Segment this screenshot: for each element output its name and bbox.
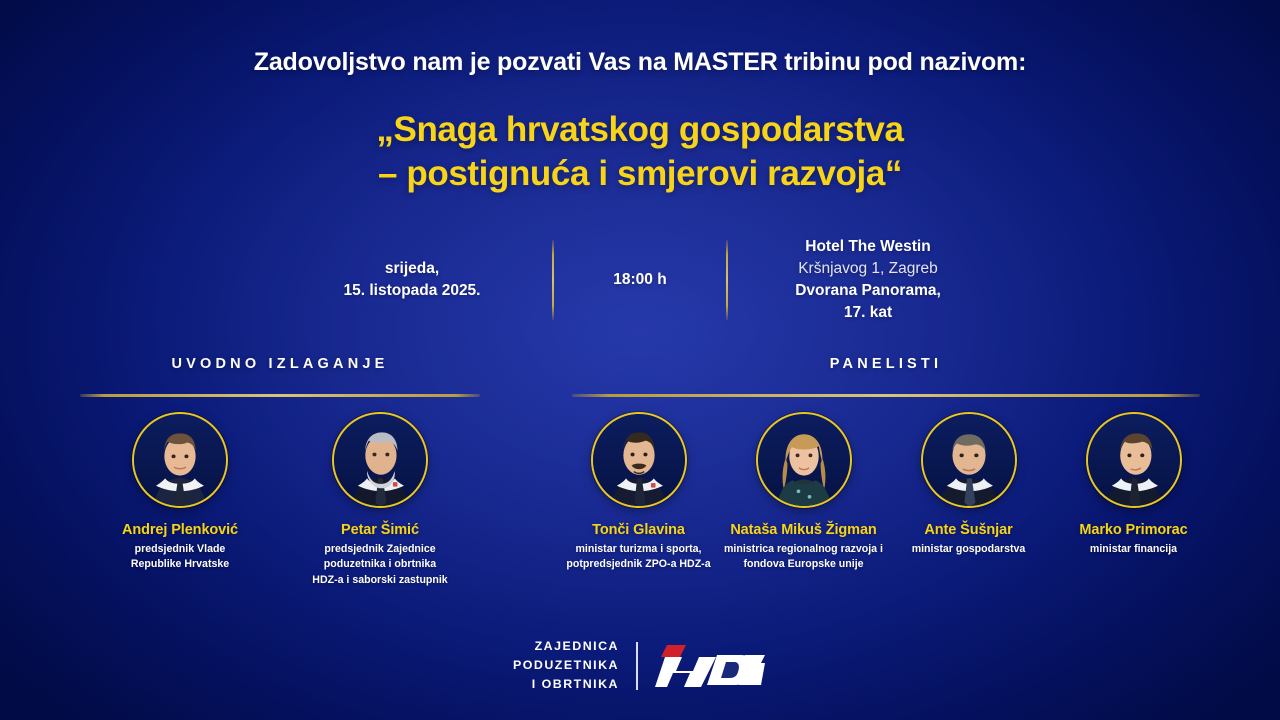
portrait-tonci-glavina xyxy=(591,412,687,508)
speaker-card: Petar Šimić predsjednik Zajednice poduze… xyxy=(280,412,480,588)
portrait-andrej-plenkovic xyxy=(132,412,228,508)
details-divider-1 xyxy=(552,240,554,320)
speaker-group-panelisti: Tonči Glavina ministar turizma i sporta,… xyxy=(556,412,1216,573)
venue-floor: 17. kat xyxy=(744,302,992,324)
event-headline: „Snaga hrvatskog gospodarstva – postignu… xyxy=(0,108,1280,196)
section-rule-right xyxy=(572,394,1200,397)
footer-logo-lockup: ZAJEDNICA PODUZETNIKA I OBRTNIKA xyxy=(0,637,1280,694)
event-venue: Hotel The Westin Kršnjavog 1, Zagreb Dvo… xyxy=(744,236,992,324)
section-title-panelisti: PANELISTI xyxy=(572,356,1200,372)
section-title-uvodno-izlaganje: UVODNO IZLAGANJE xyxy=(80,356,480,372)
speaker-group-uvodno-izlaganje: Andrej Plenković predsjednik Vlade Repub… xyxy=(80,412,480,588)
speaker-name: Petar Šimić xyxy=(280,522,480,538)
details-divider-2 xyxy=(726,240,728,320)
headline-line-2: – postignuća i smjerovi razvoja“ xyxy=(0,152,1280,196)
speaker-card: Nataša Mikuš Žigman ministrica regionaln… xyxy=(721,412,886,573)
venue-address: Kršnjavog 1, Zagreb xyxy=(744,258,992,280)
speaker-name: Tonči Glavina xyxy=(556,522,721,538)
venue-hall: Dvorana Panorama, xyxy=(744,280,992,302)
speaker-name: Nataša Mikuš Žigman xyxy=(721,522,886,538)
logo-separator xyxy=(636,642,638,690)
event-time: 18:00 h xyxy=(570,236,710,324)
hdz-logo xyxy=(655,643,767,689)
speaker-role: ministar gospodarstva xyxy=(886,542,1051,557)
speaker-role: ministar financija xyxy=(1051,542,1216,557)
event-time-value: 18:00 h xyxy=(570,269,710,291)
venue-name: Hotel The Westin xyxy=(744,236,992,258)
speaker-role: predsjednik Vlade Republike Hrvatske xyxy=(80,542,280,573)
portrait-petar-simic xyxy=(332,412,428,508)
section-header-panelisti: PANELISTI xyxy=(572,356,1200,397)
invite-line: Zadovoljstvo nam je pozvati Vas na MASTE… xyxy=(0,48,1280,77)
event-date-line-2: 15. listopada 2025. xyxy=(288,280,536,302)
speaker-name: Ante Šušnjar xyxy=(886,522,1051,538)
section-rule-left xyxy=(80,394,480,397)
speaker-role: ministrica regionalnog razvoja i fondova… xyxy=(721,542,886,573)
headline-line-1: „Snaga hrvatskog gospodarstva xyxy=(376,110,903,149)
portrait-ante-susnjar xyxy=(921,412,1017,508)
section-header-uvodno-izlaganje: UVODNO IZLAGANJE xyxy=(80,356,480,397)
speaker-card: Andrej Plenković predsjednik Vlade Repub… xyxy=(80,412,280,588)
portrait-natasa-mikus-zigman xyxy=(756,412,852,508)
speaker-name: Andrej Plenković xyxy=(80,522,280,538)
event-date: srijeda, 15. listopada 2025. xyxy=(288,236,536,324)
portrait-marko-primorac xyxy=(1086,412,1182,508)
speaker-role: predsjednik Zajednice poduzetnika i obrt… xyxy=(280,542,480,588)
speaker-role: ministar turizma i sporta, potpredsjedni… xyxy=(556,542,721,573)
speaker-card: Ante Šušnjar ministar gospodarstva xyxy=(886,412,1051,573)
organization-name: ZAJEDNICA PODUZETNIKA I OBRTNIKA xyxy=(513,637,619,694)
speaker-name: Marko Primorac xyxy=(1051,522,1216,538)
speaker-card: Tonči Glavina ministar turizma i sporta,… xyxy=(556,412,721,573)
event-details-strip: srijeda, 15. listopada 2025. 18:00 h Hot… xyxy=(0,236,1280,324)
speaker-card: Marko Primorac ministar financija xyxy=(1051,412,1216,573)
event-date-line-1: srijeda, xyxy=(288,258,536,280)
event-poster: Zadovoljstvo nam je pozvati Vas na MASTE… xyxy=(0,0,1280,720)
